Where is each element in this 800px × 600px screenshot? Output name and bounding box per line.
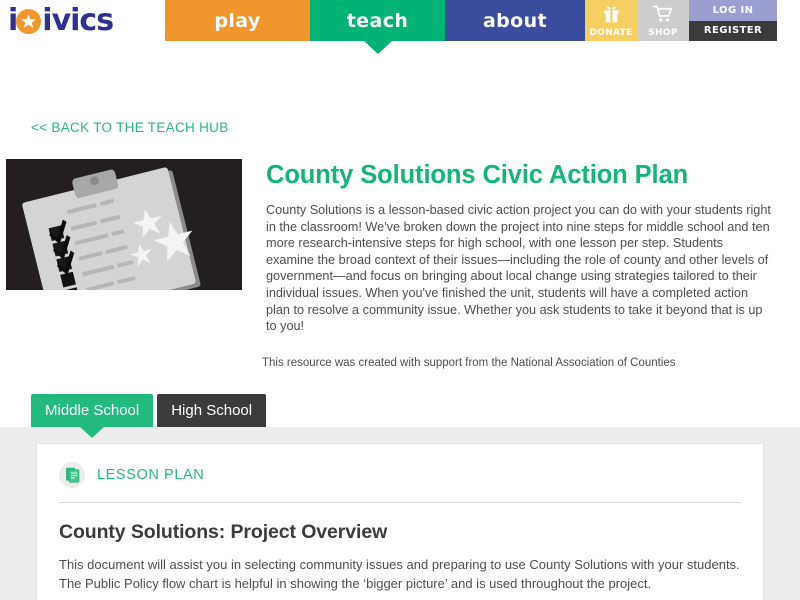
page-content: << BACK TO THE TEACH HUB xyxy=(0,41,800,600)
card-paragraph-1: This document will assist you in selecti… xyxy=(59,555,741,594)
tab-middle-school-label: Middle School xyxy=(45,402,139,419)
star-icon xyxy=(16,9,41,34)
shop-button[interactable]: SHOP xyxy=(637,0,689,41)
active-nav-pointer xyxy=(364,41,392,54)
register-label: REGISTER xyxy=(704,25,762,36)
tab-high-school-label: High School xyxy=(171,402,252,419)
logo-wordmark: i ivics xyxy=(8,6,113,36)
active-tab-pointer xyxy=(80,427,104,438)
card-kicker: LESSON PLAN xyxy=(59,462,741,503)
resource-credit: This resource was created with support f… xyxy=(262,357,800,369)
lesson-plan-card[interactable]: LESSON PLAN County Solutions: Project Ov… xyxy=(36,443,764,600)
register-button[interactable]: REGISTER xyxy=(689,21,777,42)
gift-icon xyxy=(603,0,620,28)
auth-buttons: LOG IN REGISTER xyxy=(689,0,777,41)
logo-text-before: i xyxy=(8,6,16,36)
nav-item-play[interactable]: play xyxy=(165,0,310,41)
lesson-plan-icon xyxy=(59,462,85,488)
nav-item-about-label: about xyxy=(483,10,547,32)
clipboard-checklist-illustration xyxy=(6,159,242,290)
card-title: County Solutions: Project Overview xyxy=(59,521,741,544)
tab-high-school[interactable]: High School xyxy=(157,394,266,427)
hero-body: County Solutions Civic Action Plan Count… xyxy=(242,159,800,335)
hero-description: County Solutions is a lesson-based civic… xyxy=(266,202,774,335)
nav-item-teach[interactable]: teach xyxy=(310,0,445,41)
grade-level-tabs: Middle School High School xyxy=(31,394,800,427)
card-kicker-label: LESSON PLAN xyxy=(97,467,204,483)
shop-label: SHOP xyxy=(648,28,677,39)
nav-item-about[interactable]: about xyxy=(445,0,585,41)
login-button[interactable]: LOG IN xyxy=(689,0,777,21)
page-title: County Solutions Civic Action Plan xyxy=(266,161,774,189)
donate-label: DONATE xyxy=(589,28,632,39)
logo-text-after: ivics xyxy=(42,6,113,36)
nav-item-teach-label: teach xyxy=(347,10,409,32)
site-header: i ivics play teach about xyxy=(0,0,800,41)
nav-item-play-label: play xyxy=(214,10,260,32)
hero-section: County Solutions Civic Action Plan Count… xyxy=(0,137,800,335)
card-body: This document will assist you in selecti… xyxy=(59,555,741,600)
site-logo[interactable]: i ivics xyxy=(0,0,165,41)
tab-panel: LESSON PLAN County Solutions: Project Ov… xyxy=(0,427,800,600)
login-label: LOG IN xyxy=(713,5,754,16)
back-to-teach-hub-link[interactable]: << BACK TO THE TEACH HUB xyxy=(31,41,229,135)
cart-icon xyxy=(653,0,673,28)
donate-button[interactable]: DONATE xyxy=(585,0,637,41)
tab-middle-school[interactable]: Middle School xyxy=(31,394,153,427)
